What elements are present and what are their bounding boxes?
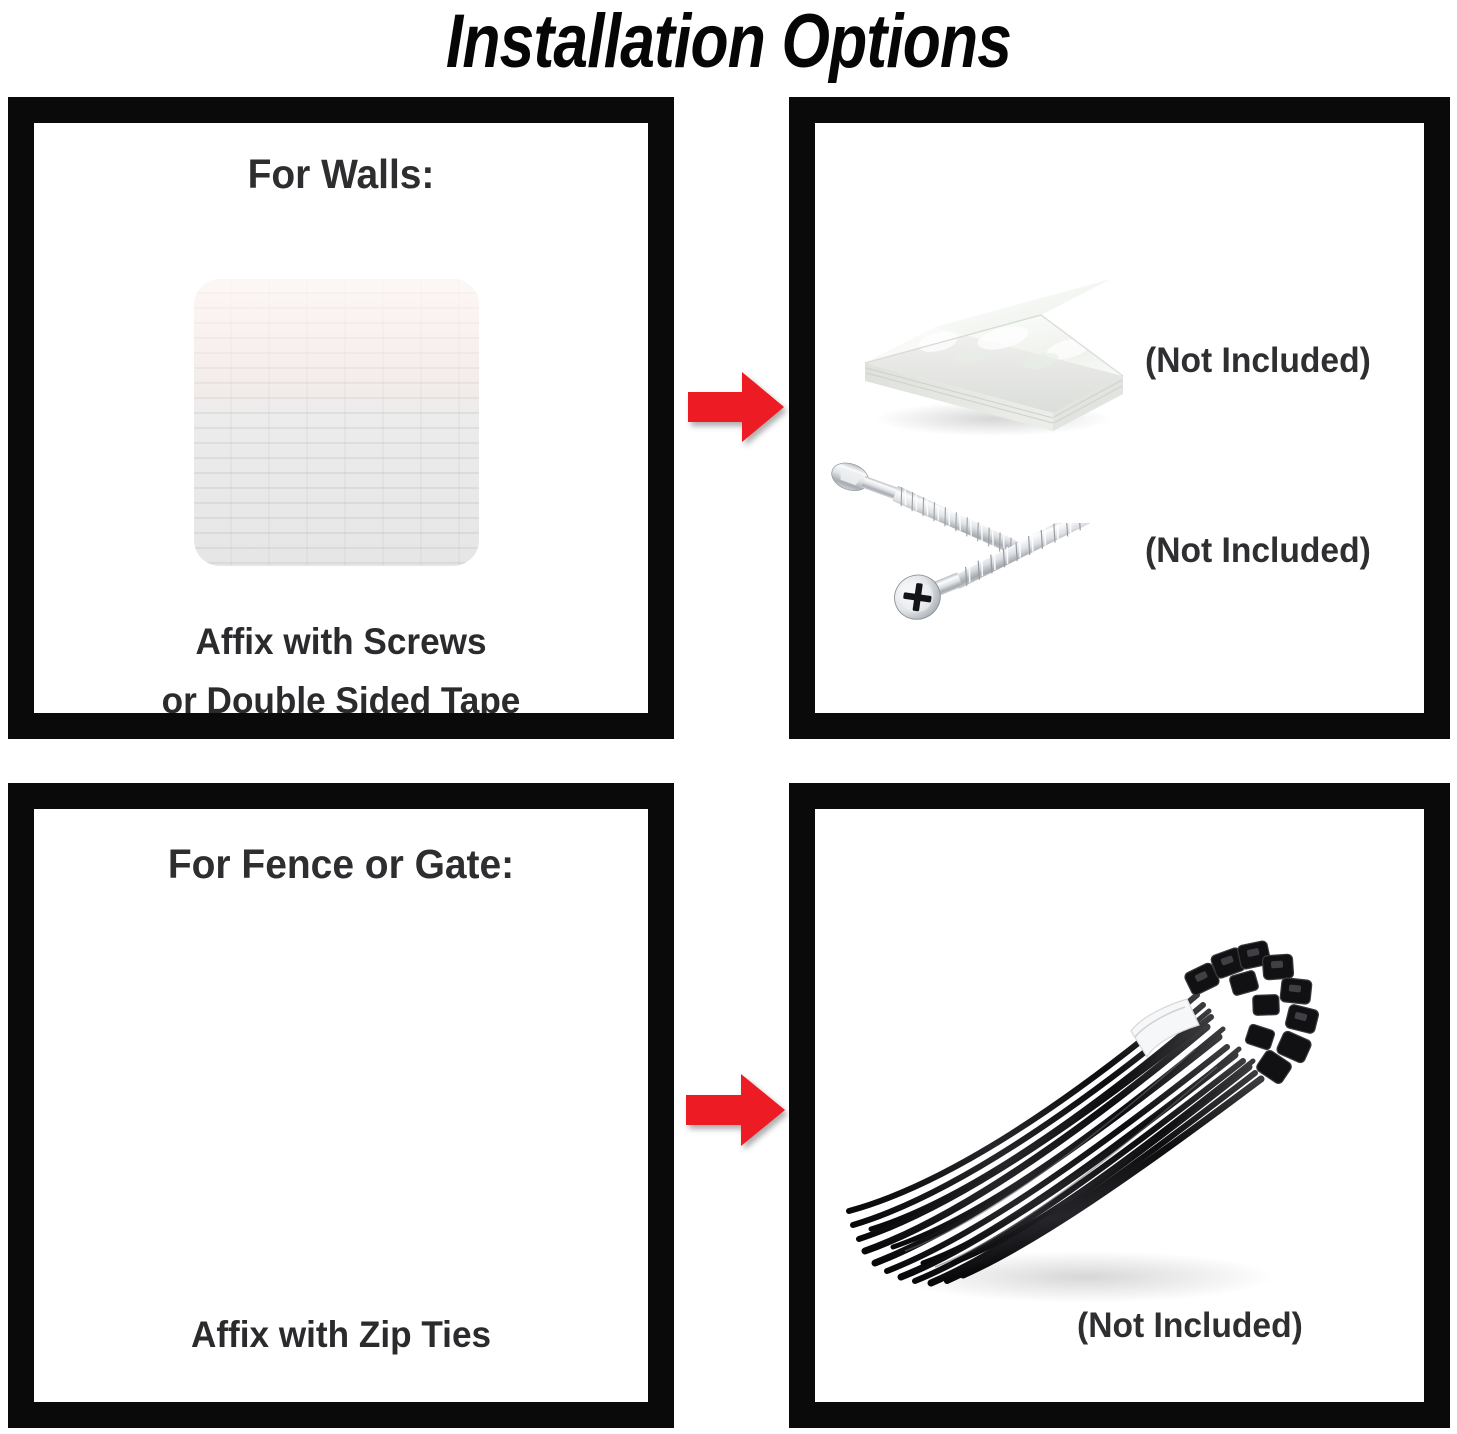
tape-not-included-label: (Not Included) xyxy=(1145,341,1371,381)
brick-highlight-wash xyxy=(194,279,479,411)
panel-wall-hardware: (Not Included) xyxy=(789,97,1450,739)
heading-for-fence-or-gate: For Fence or Gate: xyxy=(49,841,632,888)
caption-affix-with-screws: Affix with Screws xyxy=(49,621,632,663)
panel-fence-hardware: (Not Included) xyxy=(789,783,1450,1428)
panel-fence-hardware-inner: (Not Included) xyxy=(815,809,1424,1402)
screw-lower-photo xyxy=(893,523,1153,643)
page-title: Installation Options xyxy=(131,0,1326,88)
arrow-fence-to-hardware-icon xyxy=(684,1070,787,1150)
panel-for-walls: For Walls: Affix with Screws or Double S… xyxy=(8,97,674,739)
arrow-walls-to-hardware-icon xyxy=(686,368,786,446)
zip-ties-not-included-label: (Not Included) xyxy=(1077,1306,1303,1346)
caption-affix-with-zip-ties: Affix with Zip Ties xyxy=(49,1314,632,1356)
installation-options-infographic: Installation Options For Walls: Affix wi… xyxy=(0,0,1457,1434)
zip-ties-bundle-photo xyxy=(835,899,1355,1319)
double-sided-tape-stack-photo xyxy=(843,243,1143,438)
white-brick-wall-photo xyxy=(194,279,479,566)
panel-for-fence-or-gate: For Fence or Gate: xyxy=(8,783,674,1428)
caption-or-double-sided-tape: or Double Sided Tape xyxy=(49,680,632,713)
heading-for-walls: For Walls: xyxy=(49,151,632,198)
panel-for-fence-or-gate-inner: For Fence or Gate: xyxy=(34,809,648,1402)
panel-wall-hardware-inner: (Not Included) xyxy=(815,123,1424,713)
panel-for-walls-inner: For Walls: Affix with Screws or Double S… xyxy=(34,123,648,713)
screws-not-included-label: (Not Included) xyxy=(1145,531,1371,571)
